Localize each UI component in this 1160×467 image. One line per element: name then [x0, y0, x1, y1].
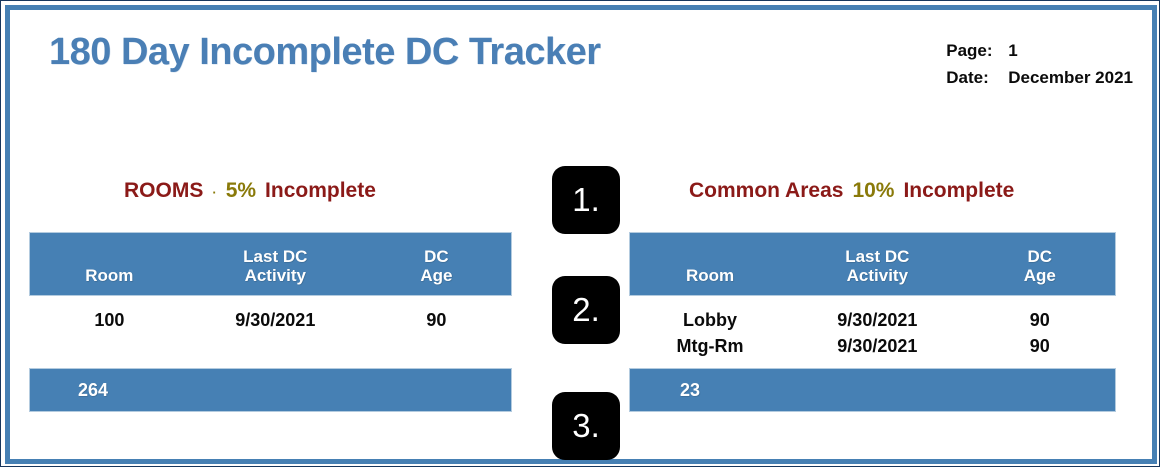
- page-value: 1: [1008, 41, 1017, 61]
- report-sheet: 180 Day Incomplete DC Tracker Page: 1 Da…: [11, 11, 1151, 458]
- page-title: 180 Day Incomplete DC Tracker: [49, 31, 601, 74]
- column-header-last-dc-line2: Activity: [847, 266, 908, 285]
- meta-row-date: Date: December 2021: [946, 68, 1133, 88]
- common-areas-status-label: Incomplete: [903, 179, 1014, 203]
- tracker-report-screen: 180 Day Incomplete DC Tracker Page: 1 Da…: [0, 0, 1160, 467]
- rooms-table-header: Room Last DC Activity DC Age: [30, 233, 511, 295]
- table-row: 100 9/30/2021 90: [30, 307, 511, 333]
- cell-last-dc-activity: 9/30/2021: [790, 333, 965, 359]
- cell-last-dc-activity: 9/30/2021: [189, 307, 362, 333]
- common-areas-total-count: 23: [680, 380, 700, 401]
- cell-dc-age: 90: [965, 307, 1115, 333]
- rooms-section-title: ROOMS · 5% Incomplete: [124, 179, 376, 203]
- column-header-last-dc-activity: Last DC Activity: [189, 247, 362, 285]
- rooms-table: Room Last DC Activity DC Age 100 9/30/20…: [30, 233, 511, 411]
- column-header-dc-age: DC Age: [362, 247, 511, 285]
- common-areas-incomplete-percent: 10%: [852, 179, 894, 203]
- column-header-dc-age-line1: DC: [362, 247, 511, 266]
- column-header-room-line2: Room: [686, 266, 734, 285]
- column-header-dc-age-line2: Age: [1024, 266, 1056, 285]
- meta-row-page: Page: 1: [946, 41, 1133, 61]
- common-areas-table-footer: 23: [630, 369, 1115, 411]
- cell-room: Mtg-Rm: [630, 333, 790, 359]
- callout-badge-2: 2.: [552, 276, 620, 344]
- date-value: December 2021: [1008, 68, 1133, 88]
- common-areas-table-header: Room Last DC Activity DC Age: [630, 233, 1115, 295]
- date-label: Date:: [946, 68, 1008, 88]
- report-meta: Page: 1 Date: December 2021: [946, 41, 1133, 88]
- rooms-title-separator: ·: [212, 185, 216, 200]
- cell-dc-age: 90: [965, 333, 1115, 359]
- table-row: Lobby 9/30/2021 90: [630, 307, 1115, 333]
- column-header-room: Room: [30, 266, 189, 285]
- column-header-last-dc-line1: Last DC: [790, 247, 965, 266]
- common-areas-section-title: Common Areas 10% Incomplete: [689, 179, 1014, 203]
- cell-room: Lobby: [630, 307, 790, 333]
- callout-badge-1: 1.: [552, 166, 620, 234]
- rooms-table-body: 100 9/30/2021 90: [30, 295, 511, 369]
- cell-last-dc-activity: 9/30/2021: [790, 307, 965, 333]
- column-header-dc-age-line2: Age: [420, 266, 452, 285]
- page-label: Page:: [946, 41, 1008, 61]
- column-header-room: Room: [630, 266, 790, 285]
- cell-dc-age: 90: [362, 307, 511, 333]
- rooms-table-footer: 264: [30, 369, 511, 411]
- rooms-incomplete-percent: 5%: [226, 179, 256, 203]
- common-areas-table: Room Last DC Activity DC Age Lobby 9/30/…: [630, 233, 1115, 411]
- table-row: Mtg-Rm 9/30/2021 90: [630, 333, 1115, 359]
- rooms-total-count: 264: [78, 380, 108, 401]
- common-areas-section-name: Common Areas: [689, 179, 843, 203]
- column-header-last-dc-activity: Last DC Activity: [790, 247, 965, 285]
- column-header-dc-age: DC Age: [965, 247, 1115, 285]
- column-header-last-dc-line1: Last DC: [189, 247, 362, 266]
- callout-badge-3: 3.: [552, 392, 620, 460]
- column-header-dc-age-line1: DC: [965, 247, 1115, 266]
- column-header-last-dc-line2: Activity: [245, 266, 306, 285]
- column-header-room-line2: Room: [85, 266, 133, 285]
- rooms-status-label: Incomplete: [265, 179, 376, 203]
- common-areas-table-body: Lobby 9/30/2021 90 Mtg-Rm 9/30/2021 90: [630, 295, 1115, 369]
- cell-room: 100: [30, 307, 189, 333]
- rooms-section-name: ROOMS: [124, 179, 203, 203]
